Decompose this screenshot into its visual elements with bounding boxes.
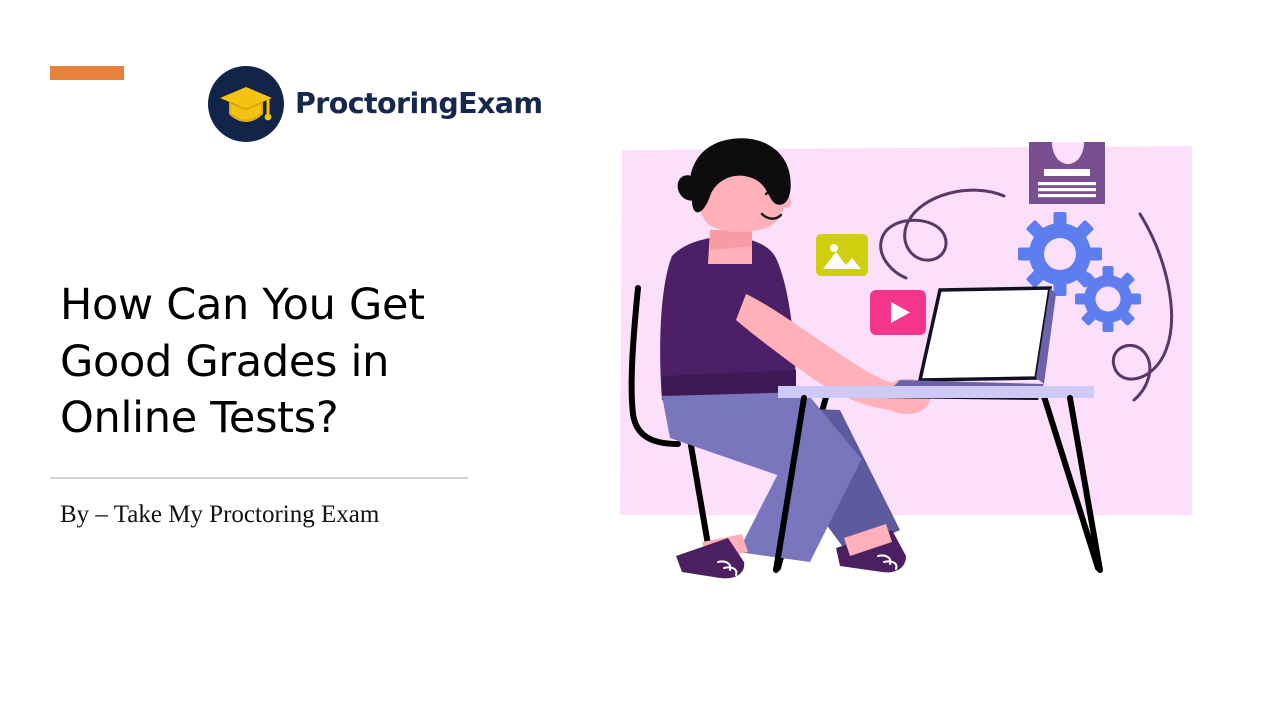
clipboard-document-icon: [1029, 142, 1105, 204]
page-title: How Can You Get Good Grades in Online Te…: [60, 277, 460, 447]
gear-small-icon: [1075, 266, 1141, 332]
graduation-cap-icon: [208, 66, 284, 142]
image-placeholder-icon: [816, 234, 868, 276]
desk-top: [778, 386, 1094, 398]
brand-logo: ProctoringExam: [208, 66, 543, 142]
slide-canvas: ProctoringExam How Can You Get Good Grad…: [0, 0, 1280, 720]
accent-bar: [50, 66, 124, 80]
brand-wordmark: ProctoringExam: [295, 90, 543, 119]
title-divider: [50, 477, 468, 479]
hero-illustration: [600, 138, 1200, 578]
video-play-icon: [870, 290, 926, 335]
byline: By – Take My Proctoring Exam: [60, 499, 480, 532]
